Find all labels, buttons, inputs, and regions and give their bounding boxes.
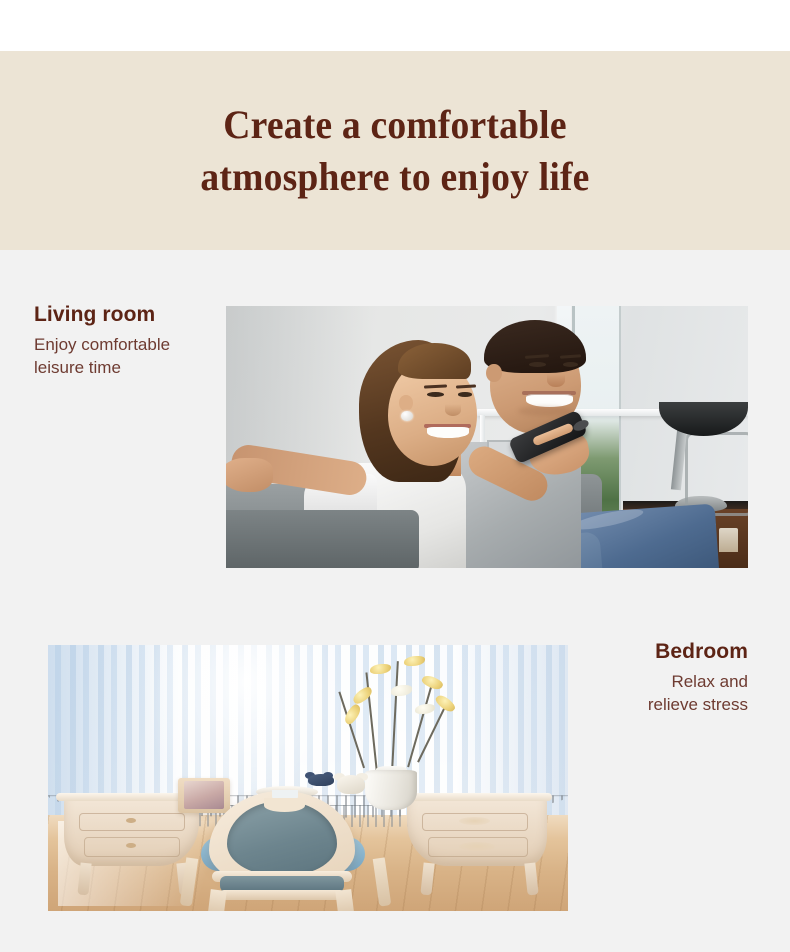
hero-banner: Create a comfortable atmosphere to enjoy… — [0, 51, 790, 250]
man-nose — [547, 374, 565, 387]
woman-earring — [401, 411, 412, 421]
woman-hand — [226, 458, 273, 492]
chair-leg-right — [335, 889, 354, 911]
man-chin-shadow — [518, 406, 570, 416]
woman-nose — [445, 404, 461, 416]
top-white-strip — [0, 0, 790, 51]
living-room-subtitle: Enjoy comfortable leisure time — [34, 333, 224, 380]
sofa-cushion — [226, 510, 419, 568]
living-room-text-block: Living room Enjoy comfortable leisure ti… — [34, 303, 224, 380]
bottle — [719, 528, 737, 552]
photo-frame-picture — [184, 781, 224, 809]
white-vase — [365, 770, 417, 810]
living-room-photo — [226, 306, 748, 568]
living-room-scene — [226, 306, 748, 568]
man-ear — [486, 364, 502, 382]
hero-title: Create a comfortable atmosphere to enjoy… — [182, 99, 609, 201]
woman-ear — [399, 395, 413, 411]
woman-eyebrow-right — [456, 384, 476, 388]
dresser-right-top — [396, 793, 552, 802]
bedroom-photo — [48, 645, 568, 911]
product-description-page: Create a comfortable atmosphere to enjoy… — [0, 0, 790, 952]
chair-apron — [220, 890, 345, 901]
bear-figurine — [337, 775, 366, 794]
bedroom-scene — [48, 645, 568, 911]
woman-smile-teeth — [427, 427, 469, 438]
chair-leg-left — [207, 889, 226, 911]
heart-chair-top-detail — [264, 798, 306, 811]
lamp-ring — [685, 432, 748, 517]
man-smile-teeth — [526, 394, 573, 407]
living-room-heading: Living room — [34, 303, 224, 327]
blue-figurine — [308, 774, 334, 786]
dresser-right-ornament-upper — [459, 817, 490, 825]
